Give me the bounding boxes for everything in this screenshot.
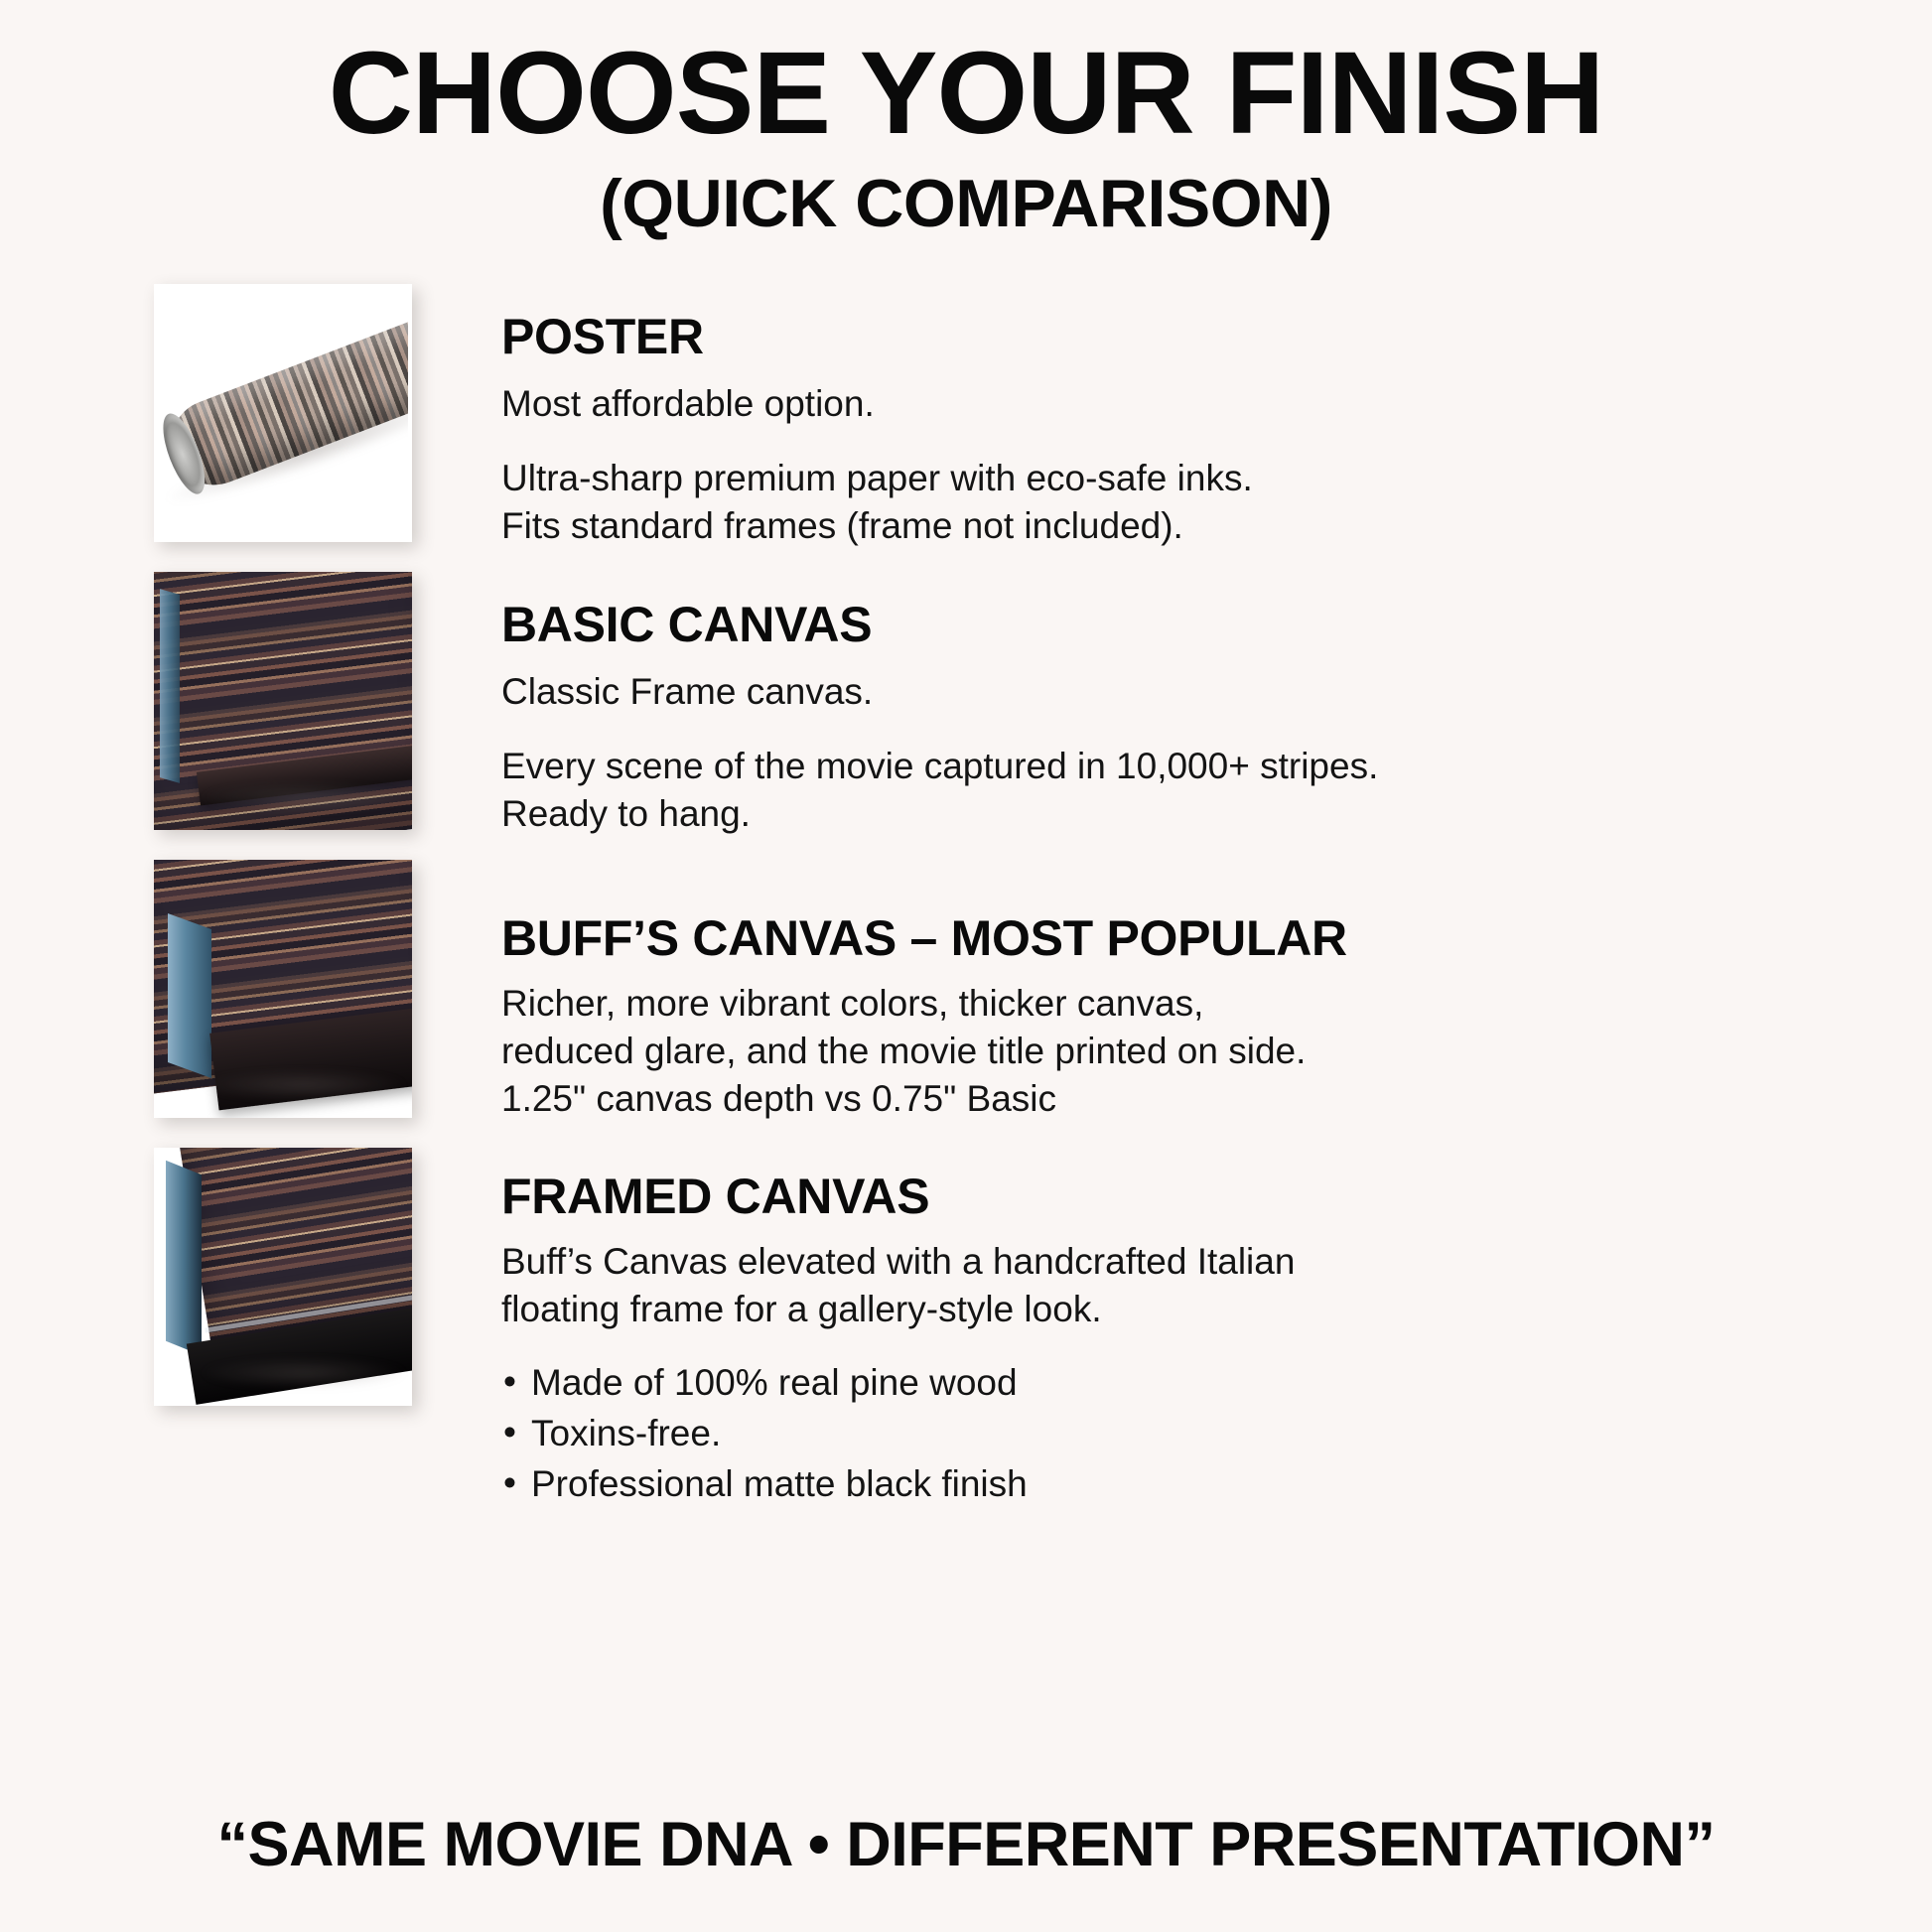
- buffs-canvas-left-edge: [168, 913, 211, 1078]
- option-body-line: reduced glare, and the movie title print…: [501, 1031, 1306, 1071]
- option-body-poster: Ultra-sharp premium paper with eco-safe …: [501, 455, 1892, 550]
- option-body-line: Buff’s Canvas elevated with a handcrafte…: [501, 1241, 1295, 1282]
- framed-canvas-left-edge: [166, 1160, 202, 1355]
- poster-artwork: [158, 288, 408, 538]
- option-row-framed-canvas: FRAMED CANVAS Buff’s Canvas elevated wit…: [0, 1148, 1932, 1436]
- basic-canvas-thumbnail-wrap: [154, 572, 412, 830]
- list-item: Toxins-free.: [501, 1408, 1892, 1458]
- footer: “SAME MOVIE DNA • DIFFERENT PRESENTATION…: [0, 1809, 1932, 1880]
- page-title: CHOOSE YOUR FINISH: [0, 34, 1932, 153]
- basic-canvas-shadow: [204, 782, 404, 812]
- buffs-canvas-shadow: [204, 1070, 404, 1100]
- framed-canvas-bullet-list: Made of 100% real pine wood Toxins-free.…: [501, 1357, 1892, 1509]
- option-heading-basic-canvas: BASIC CANVAS: [501, 598, 1892, 652]
- footer-tagline: “SAME MOVIE DNA • DIFFERENT PRESENTATION…: [0, 1809, 1932, 1880]
- framed-canvas-corner-photo: [154, 1148, 412, 1406]
- option-heading-framed-canvas: FRAMED CANVAS: [501, 1170, 1892, 1224]
- framed-canvas-thumbnail-wrap: [154, 1148, 412, 1406]
- poster-text-column: POSTER Most affordable option. Ultra-sha…: [412, 284, 1932, 551]
- option-heading-buffs-canvas: BUFF’S CANVAS – MOST POPULAR: [501, 911, 1892, 966]
- buffs-canvas-corner-photo: [154, 860, 412, 1118]
- finish-comparison-infographic: CHOOSE YOUR FINISH (QUICK COMPARISON) PO…: [0, 0, 1932, 1932]
- option-heading-poster: POSTER: [501, 310, 1892, 364]
- option-lead-poster: Most affordable option.: [501, 380, 1892, 427]
- header: CHOOSE YOUR FINISH (QUICK COMPARISON): [0, 0, 1932, 240]
- basic-canvas-left-edge: [160, 589, 180, 783]
- option-row-basic-canvas: BASIC CANVAS Classic Frame canvas. Every…: [0, 572, 1932, 860]
- option-lead-basic-canvas: Classic Frame canvas.: [501, 668, 1892, 715]
- basic-canvas-text-column: BASIC CANVAS Classic Frame canvas. Every…: [412, 572, 1932, 839]
- framed-canvas-artwork: [154, 1148, 412, 1406]
- option-body-basic-canvas: Every scene of the movie captured in 10,…: [501, 743, 1892, 838]
- option-body-line: floating frame for a gallery-style look.: [501, 1289, 1102, 1329]
- rolled-poster-print-photo: [154, 284, 412, 542]
- framed-canvas-text-column: FRAMED CANVAS Buff’s Canvas elevated wit…: [412, 1148, 1932, 1509]
- option-body-line: Ultra-sharp premium paper with eco-safe …: [501, 458, 1253, 498]
- options-list: POSTER Most affordable option. Ultra-sha…: [0, 284, 1932, 1436]
- option-body-line: Richer, more vibrant colors, thicker can…: [501, 983, 1203, 1024]
- list-item: Made of 100% real pine wood: [501, 1357, 1892, 1408]
- option-body-line: Every scene of the movie captured in 10,…: [501, 746, 1378, 786]
- list-item: Professional matte black finish: [501, 1458, 1892, 1509]
- option-body-line: Ready to hang.: [501, 793, 751, 834]
- option-body-line: Fits standard frames (frame not included…: [501, 505, 1183, 546]
- buffs-canvas-thumbnail-wrap: [154, 860, 412, 1118]
- option-row-buffs-canvas: BUFF’S CANVAS – MOST POPULAR Richer, mor…: [0, 860, 1932, 1148]
- option-body-buffs-canvas: Richer, more vibrant colors, thicker can…: [501, 980, 1892, 1123]
- buffs-canvas-text-column: BUFF’S CANVAS – MOST POPULAR Richer, mor…: [412, 860, 1932, 1123]
- basic-canvas-artwork: [154, 572, 412, 830]
- option-row-poster: POSTER Most affordable option. Ultra-sha…: [0, 284, 1932, 572]
- buffs-canvas-artwork: [154, 860, 412, 1118]
- option-body-framed-canvas: Buff’s Canvas elevated with a handcrafte…: [501, 1238, 1892, 1333]
- basic-canvas-corner-photo: [154, 572, 412, 830]
- poster-thumbnail-wrap: [154, 284, 412, 542]
- option-body-line: 1.25" canvas depth vs 0.75" Basic: [501, 1078, 1056, 1119]
- framed-canvas-shadow: [204, 1358, 404, 1388]
- page-subtitle: (QUICK COMPARISON): [0, 169, 1932, 239]
